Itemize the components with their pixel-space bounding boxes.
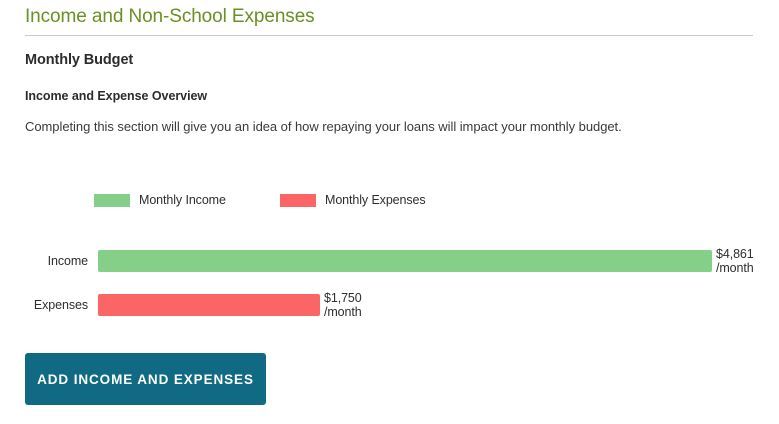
legend-label-monthly-income: Monthly Income (139, 193, 226, 207)
legend-swatch-monthly-expenses (280, 194, 316, 207)
bar-category-label-income: Income (48, 254, 88, 268)
subsection-heading: Income and Expense Overview (25, 89, 207, 103)
add-income-and-expenses-button[interactable]: Add Income and Expenses (25, 353, 266, 405)
legend-item-monthly-income: Monthly Income (94, 193, 226, 207)
bar-value-income: $4,861 /month (716, 247, 754, 275)
bar-track-expenses: Expenses $1,750 /month (98, 294, 320, 316)
legend-item-monthly-expenses: Monthly Expenses (280, 193, 426, 207)
bar-track-income: Income $4,861 /month (98, 250, 712, 272)
page-title: Income and Non-School Expenses (25, 5, 753, 29)
bar-value-period-income: /month (716, 261, 754, 275)
page-header: Income and Non-School Expenses (25, 5, 753, 36)
bar-value-expenses: $1,750 /month (324, 291, 362, 319)
legend-label-monthly-expenses: Monthly Expenses (325, 193, 426, 207)
intro-paragraph: Completing this section will give you an… (25, 119, 622, 134)
budget-bar-chart: Monthly Income Monthly Expenses Income $… (0, 178, 779, 333)
bar-category-label-expenses: Expenses (34, 298, 88, 312)
legend-swatch-monthly-income (94, 194, 130, 207)
bar-fill-income (98, 250, 712, 272)
bar-value-amount-income: $4,861 (716, 247, 754, 261)
section-heading: Monthly Budget (25, 52, 133, 68)
header-divider (25, 35, 753, 36)
bar-fill-expenses (98, 294, 320, 316)
bar-value-period-expenses: /month (324, 305, 362, 319)
bar-value-amount-expenses: $1,750 (324, 291, 362, 305)
